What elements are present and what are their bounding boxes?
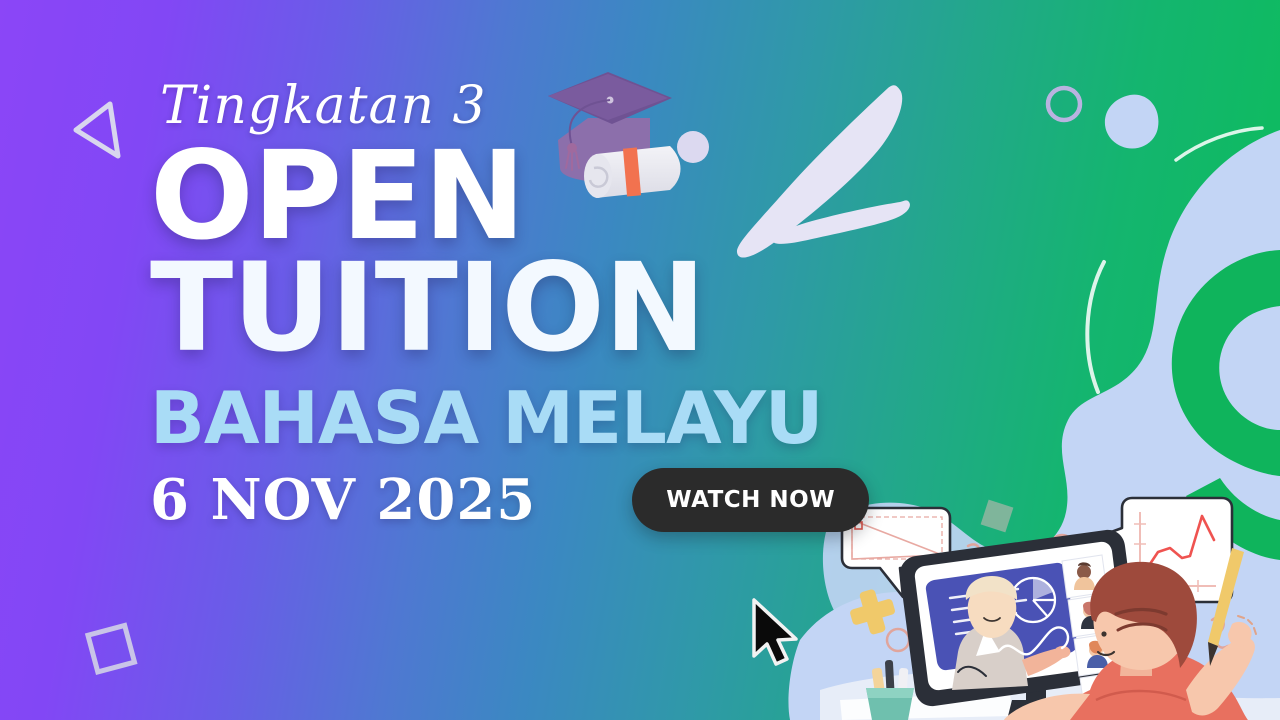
subject-title: BAHASA MELAYU [150,382,910,454]
promo-banner: Tingkatan 3 OPEN TUITION BAHASA MELAYU 6… [0,0,1280,720]
pencil-cup [866,660,914,720]
watch-now-button[interactable]: WATCH NOW [632,468,869,532]
headline-line-2: TUITION [150,252,910,364]
page-title: OPEN TUITION [150,140,910,364]
date-and-cta-row: 6 NOV 2025 WATCH NOW [150,468,910,532]
banner-text-block: Tingkatan 3 OPEN TUITION BAHASA MELAYU 6… [150,80,910,532]
event-date: 6 NOV 2025 [150,472,536,528]
